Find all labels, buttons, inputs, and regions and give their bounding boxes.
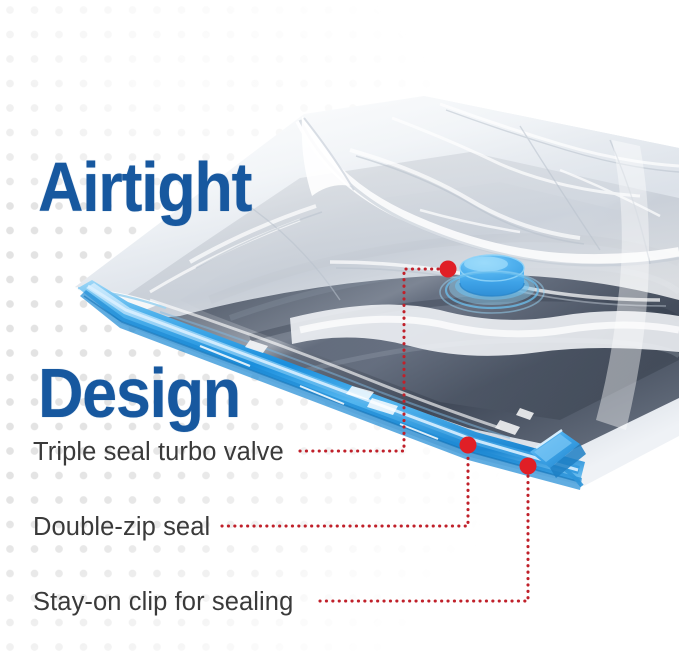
callout-label-zip: Double-zip seal bbox=[33, 513, 210, 542]
page-title-line-2: Design bbox=[38, 359, 251, 428]
callout-label-valve: Triple seal turbo valve bbox=[33, 438, 284, 467]
infographic-canvas: Airtight Design Triple seal turbo valve … bbox=[0, 0, 679, 663]
page-title-line-1: Airtight bbox=[38, 153, 251, 222]
page-title: Airtight Design bbox=[38, 16, 251, 565]
callout-label-clip: Stay-on clip for sealing bbox=[33, 588, 293, 617]
